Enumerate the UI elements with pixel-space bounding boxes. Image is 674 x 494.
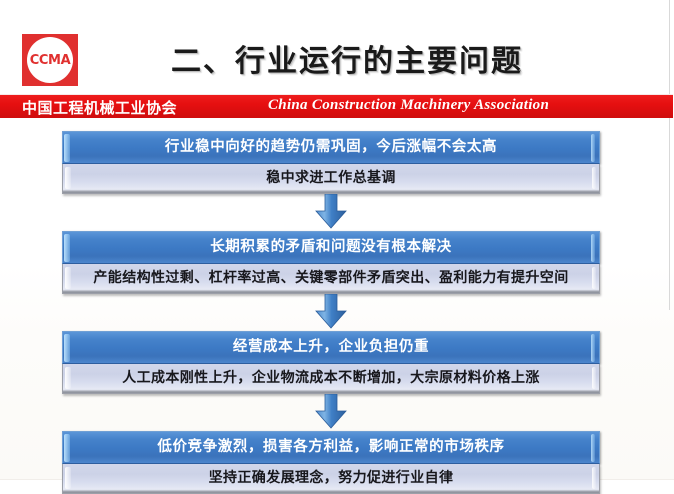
association-banner: 中国工程机械工业协会 China Construction Machinery … <box>0 94 673 118</box>
issue-group-2: 长期积累的矛盾和问题没有根本解决 产能结构性过剩、杠杆率过高、关键零部件矛盾突出… <box>62 231 600 294</box>
down-arrow-icon <box>313 394 349 430</box>
issue-heading-label: 长期积累的矛盾和问题没有根本解决 <box>210 239 452 255</box>
issue-detail-label: 坚持正确发展理念，努力促进行业自律 <box>209 470 454 486</box>
page-title: 二、行业运行的主要问题 <box>0 36 674 80</box>
issue-detail-label: 产能结构性过剩、杠杆率过高、关键零部件矛盾突出、盈利能力有提升空间 <box>93 270 568 286</box>
issue-detail-4[interactable]: 坚持正确发展理念，努力促进行业自律 <box>62 464 600 494</box>
issue-heading-1[interactable]: 行业稳中向好的趋势仍需巩固，今后涨幅不会太高 <box>62 131 600 164</box>
connector-2 <box>62 294 600 331</box>
issue-group-1: 行业稳中向好的趋势仍需巩固，今后涨幅不会太高 稳中求进工作总基调 <box>62 131 600 194</box>
issue-detail-3[interactable]: 人工成本刚性上升，企业物流成本不断增加，大宗原材料价格上涨 <box>62 364 600 394</box>
banner-english-name: China Construction Machinery Association <box>268 97 549 114</box>
issue-heading-3[interactable]: 经营成本上升，企业负担仍重 <box>62 331 600 364</box>
issue-heading-label: 经营成本上升，企业负担仍重 <box>233 339 429 355</box>
slide-canvas: CCMA 二、行业运行的主要问题 中国工程机械工业协会 China Constr… <box>0 0 674 480</box>
connector-1 <box>62 194 600 231</box>
issue-detail-label: 稳中求进工作总基调 <box>266 170 396 186</box>
down-arrow-icon <box>313 194 349 230</box>
issue-group-4: 低价竞争激烈，损害各方利益，影响正常的市场秩序 坚持正确发展理念，努力促进行业自… <box>62 431 600 494</box>
issue-detail-1[interactable]: 稳中求进工作总基调 <box>62 164 600 194</box>
down-arrow-icon <box>313 294 349 330</box>
issue-heading-4[interactable]: 低价竞争激烈，损害各方利益，影响正常的市场秩序 <box>62 431 600 464</box>
issue-heading-label: 低价竞争激烈，损害各方利益，影响正常的市场秩序 <box>157 439 504 455</box>
issue-detail-label: 人工成本刚性上升，企业物流成本不断增加，大宗原材料价格上涨 <box>122 370 540 386</box>
connector-3 <box>62 394 600 431</box>
banner-chinese-name: 中国工程机械工业协会 <box>22 97 177 118</box>
issue-group-3: 经营成本上升，企业负担仍重 人工成本刚性上升，企业物流成本不断增加，大宗原材料价… <box>62 331 600 394</box>
content-groups: 行业稳中向好的趋势仍需巩固，今后涨幅不会太高 稳中求进工作总基调 <box>62 131 600 494</box>
issue-heading-2[interactable]: 长期积累的矛盾和问题没有根本解决 <box>62 231 600 264</box>
issue-detail-2[interactable]: 产能结构性过剩、杠杆率过高、关键零部件矛盾突出、盈利能力有提升空间 <box>62 264 600 294</box>
issue-heading-label: 行业稳中向好的趋势仍需巩固，今后涨幅不会太高 <box>165 139 497 155</box>
